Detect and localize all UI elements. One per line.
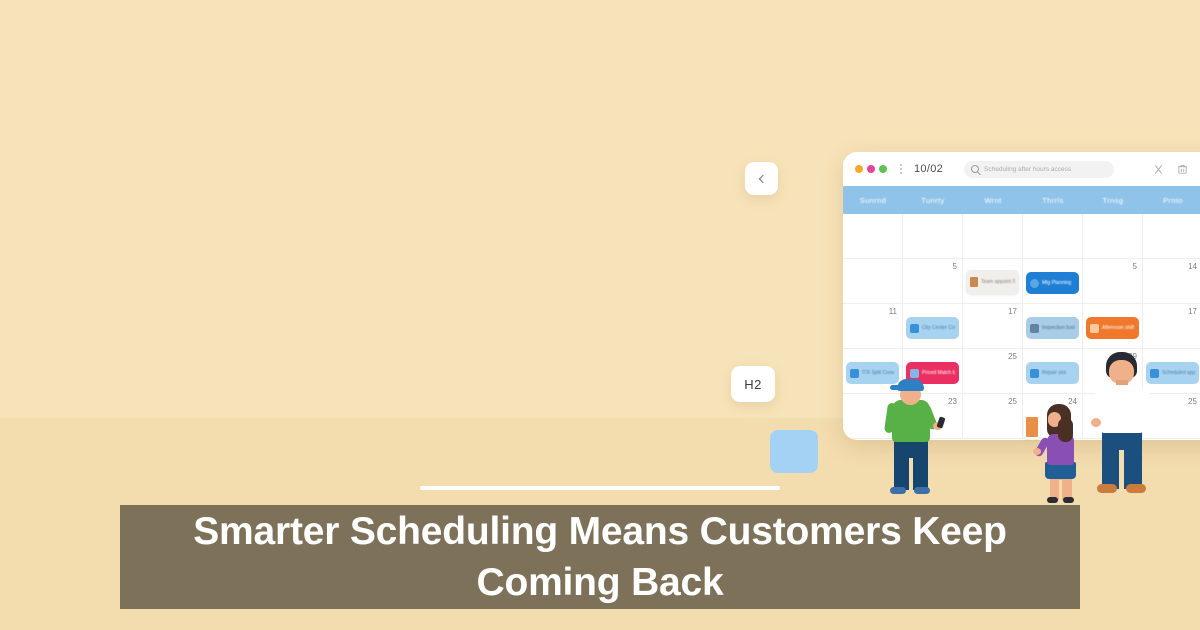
calendar-day-number: 25 <box>1008 397 1017 406</box>
user-icon <box>910 324 919 333</box>
title-divider <box>420 486 780 490</box>
calendar-cell[interactable]: 17 <box>1143 304 1200 349</box>
calendar-cell[interactable]: Inspection booking <box>1023 304 1083 349</box>
clock-icon <box>1030 279 1039 288</box>
alert-icon <box>1090 324 1099 333</box>
calendar-day-number: 25 <box>1188 397 1197 406</box>
calendar-cell[interactable]: 25 <box>963 394 1023 439</box>
document-icon <box>970 277 978 287</box>
color-swatch[interactable] <box>770 430 818 473</box>
calendar-cell[interactable]: Repair slot <box>1023 349 1083 394</box>
calendar-event-chip[interactable]: Repair slot <box>1026 362 1079 384</box>
calendar-cell[interactable] <box>903 214 963 259</box>
calendar-day-number: 5 <box>1133 262 1137 271</box>
previous-button[interactable] <box>745 162 778 195</box>
scissors-icon[interactable] <box>1152 163 1165 176</box>
weekday-3: Thrrls <box>1023 186 1083 214</box>
calendar-event-label: Afternoon shift <box>1102 325 1134 332</box>
heading-level-tag[interactable]: H2 <box>731 366 775 402</box>
title-overlay: Smarter Scheduling Means Customers Keep … <box>120 505 1080 609</box>
calendar-cell[interactable]: Mtg Planning <box>1023 259 1083 304</box>
calendar-event-label: Mtg Planning <box>1042 280 1071 287</box>
green-dot[interactable] <box>879 165 887 173</box>
scene-root: 10/02 Scheduling after hours access <box>0 0 1200 630</box>
calendar-event-chip[interactable]: City Center Crew <box>906 317 959 339</box>
grid-icon <box>1030 324 1039 333</box>
search-icon <box>971 165 979 173</box>
calendar-event-chip[interactable]: Inspection booking <box>1026 317 1079 339</box>
heading-tag-label: H2 <box>744 377 762 392</box>
calendar-event-chip[interactable]: Mtg Planning <box>1026 272 1079 294</box>
calendar-day-number: 25 <box>1008 352 1017 361</box>
search-placeholder: Scheduling after hours access <box>984 166 1071 173</box>
calendar-event-label: Repair slot <box>1042 370 1066 377</box>
browser-chrome-bar: 10/02 Scheduling after hours access <box>843 152 1200 186</box>
browser-toolbar <box>1152 163 1200 176</box>
person-green-shirt <box>878 370 948 500</box>
person-white-shirt <box>1086 350 1160 502</box>
chrome-date-label: 10/02 <box>914 163 943 175</box>
calendar-cell[interactable] <box>1083 214 1143 259</box>
kebab-menu-icon[interactable] <box>896 162 906 176</box>
calendar-cell[interactable]: 14 <box>1143 259 1200 304</box>
calendar-event-label: Scheduled appoint <box>1162 370 1195 377</box>
weekday-1: Tunrty <box>903 186 963 214</box>
calendar-event-label: City Center Crew <box>922 325 955 332</box>
calendar-cell[interactable]: 17 <box>963 304 1023 349</box>
calendar-day-number: 14 <box>1188 262 1197 271</box>
calendar-cell[interactable] <box>843 259 903 304</box>
weekday-0: Sunrnd <box>843 186 903 214</box>
calendar-weekday-header: Sunrnd Tunrty Wrnt Thrrls Trnsg Prnto Ta… <box>843 186 1200 214</box>
window-traffic-lights[interactable] <box>855 165 887 173</box>
calendar-event-label: Team appoint Saturday <box>981 279 1015 286</box>
weekday-2: Wrnt <box>963 186 1023 214</box>
weekday-4: Trnsg <box>1083 186 1143 214</box>
calendar-cell[interactable]: Team appoint Saturday <box>963 259 1023 304</box>
calendar-cell[interactable]: 11 <box>843 304 903 349</box>
weekday-5: Prnto <box>1143 186 1200 214</box>
calendar-cell[interactable] <box>1143 214 1200 259</box>
calendar-cell[interactable] <box>963 214 1023 259</box>
orange-dot[interactable] <box>855 165 863 173</box>
check-icon <box>850 369 859 378</box>
calendar-day-number: 17 <box>1008 307 1017 316</box>
calendar-event-chip[interactable]: Team appoint Saturday <box>966 270 1019 294</box>
calendar-cell[interactable] <box>1023 214 1083 259</box>
chevron-left-icon <box>758 174 766 182</box>
trash-icon[interactable] <box>1176 163 1189 176</box>
calendar-day-number: 17 <box>1188 307 1197 316</box>
calendar-day-number: 23 <box>948 397 957 406</box>
pink-dot[interactable] <box>867 165 875 173</box>
calendar-event-label: Inspection booking <box>1042 325 1075 332</box>
calendar-cell[interactable]: 5 <box>903 259 963 304</box>
calendar-day-number: 5 <box>953 262 957 271</box>
search-input[interactable]: Scheduling after hours access <box>964 161 1114 178</box>
calendar-cell[interactable] <box>843 214 903 259</box>
check-icon <box>1030 369 1039 378</box>
calendar-day-number: 11 <box>889 307 897 316</box>
calendar-cell[interactable]: Afternoon shift <box>1083 304 1143 349</box>
calendar-cell[interactable]: 5 <box>1083 259 1143 304</box>
calendar-cell[interactable]: 25 <box>963 349 1023 394</box>
person-purple-top <box>1032 400 1088 506</box>
page-title: Smarter Scheduling Means Customers Keep … <box>134 506 1066 609</box>
calendar-cell[interactable]: City Center Crew <box>903 304 963 349</box>
calendar-event-chip[interactable]: Afternoon shift <box>1086 317 1139 339</box>
